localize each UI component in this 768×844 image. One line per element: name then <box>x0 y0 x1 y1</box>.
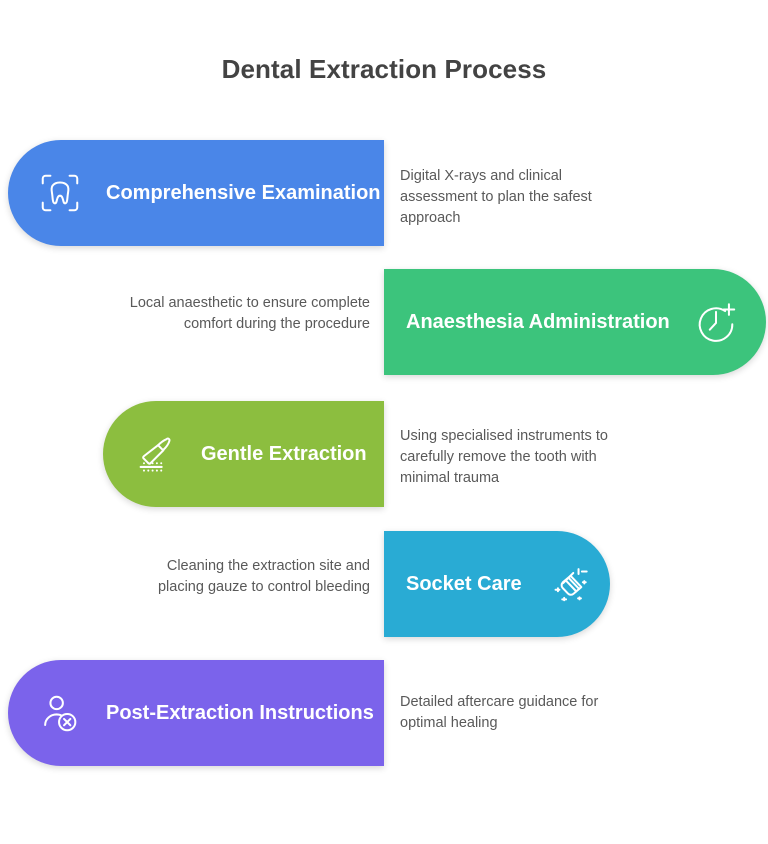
step-label: Anaesthesia Administration <box>406 311 670 334</box>
step-bar-comprehensive-examination[interactable]: Comprehensive Examination <box>8 140 384 246</box>
step-bar-post-extraction-instructions[interactable]: Post-Extraction Instructions <box>8 660 384 766</box>
step-bar-anaesthesia-administration[interactable]: Anaesthesia Administration <box>384 269 766 375</box>
step-description: Detailed aftercare guidance for optimal … <box>400 692 635 734</box>
step-description: Local anaesthetic to ensure complete com… <box>125 293 370 335</box>
step-label: Gentle Extraction <box>201 443 367 466</box>
person-remove-icon <box>34 687 86 739</box>
step-bar-gentle-extraction[interactable]: Gentle Extraction <box>103 401 384 507</box>
step-row-3: Gentle Extraction Using specialised inst… <box>0 401 768 507</box>
clock-plus-icon <box>690 296 742 348</box>
step-description: Digital X-rays and clinical assessment t… <box>400 166 635 229</box>
step-bar-socket-care[interactable]: Socket Care <box>384 531 610 637</box>
step-label: Comprehensive Examination <box>106 182 381 205</box>
dental-extraction-infographic: Dental Extraction Process Comprehensive … <box>0 0 768 844</box>
step-label: Socket Care <box>406 573 522 596</box>
step-row-1: Comprehensive Examination Digital X-rays… <box>0 140 768 246</box>
step-row-5: Post-Extraction Instructions Detailed af… <box>0 660 768 766</box>
tooth-scan-icon <box>34 167 86 219</box>
broom-sparkle-icon <box>542 558 594 610</box>
step-description: Cleaning the extraction site and placing… <box>125 556 370 598</box>
step-label: Post-Extraction Instructions <box>106 702 374 725</box>
step-row-2: Anaesthesia Administration Local anaesth… <box>0 269 768 375</box>
step-row-4: Socket Care Cleaning the extraction site… <box>0 531 768 637</box>
step-description: Using specialised instruments to careful… <box>400 426 635 489</box>
page-title: Dental Extraction Process <box>0 54 768 85</box>
scalpel-icon <box>129 428 181 480</box>
